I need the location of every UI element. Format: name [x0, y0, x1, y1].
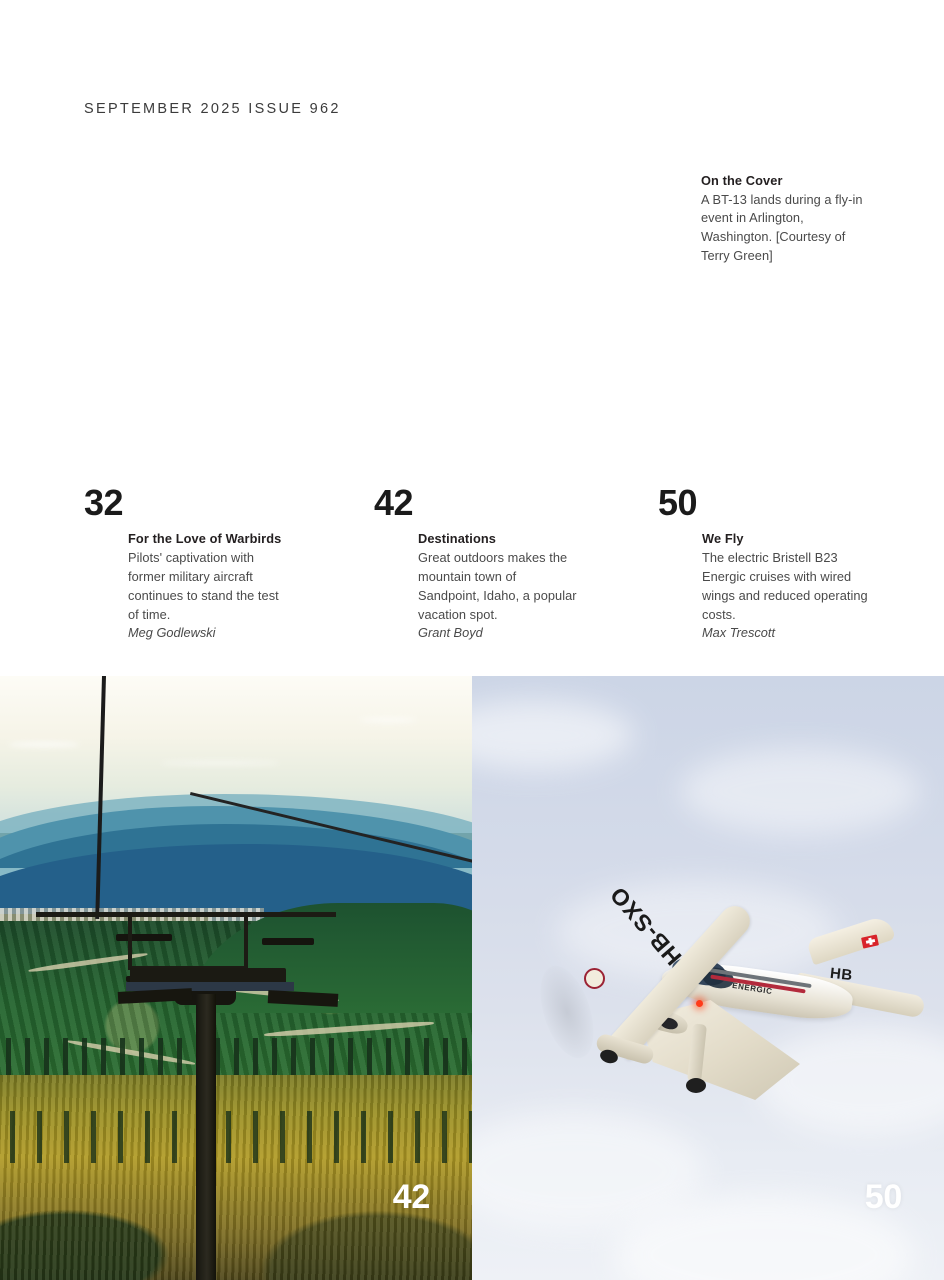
toc-entry-we-fly[interactable]: 50 We Fly The electric Bristell B23 Ener…	[658, 486, 918, 643]
mountain-resort-chairlift-photo[interactable]: 42	[0, 676, 472, 1280]
on-the-cover-block: On the Cover A BT-13 lands during a fly-…	[701, 172, 873, 266]
vertical-tail	[806, 914, 896, 965]
cloud-icon	[680, 748, 920, 834]
on-the-cover-body: A BT-13 lands during a fly-in event in A…	[701, 191, 873, 267]
toc-entry-description: Pilots' captivation with former military…	[128, 549, 288, 625]
issue-date-line: SEPTEMBER 2025 ISSUE 962	[84, 101, 341, 117]
toc-entry-author: Meg Godlewski	[128, 624, 288, 643]
lift-carrier-frame	[128, 914, 248, 970]
navigation-light-icon	[696, 1000, 703, 1007]
toc-entry-author: Grant Boyd	[418, 624, 578, 643]
magazine-contents-page: SEPTEMBER 2025 ISSUE 962 On the Cover A …	[0, 0, 944, 1280]
toc-entry-title: We Fly	[702, 530, 870, 549]
photo-page-number: 42	[393, 1180, 430, 1214]
toc-entry-warbirds[interactable]: 32 For the Love of Warbirds Pilots' capt…	[84, 486, 334, 643]
toc-entry-description: Great outdoors makes the mountain town o…	[418, 549, 578, 625]
toc-entry-destinations[interactable]: 42 Destinations Great outdoors makes the…	[374, 486, 624, 643]
electric-aircraft-in-flight-photo[interactable]: ENERGIC HB-SXO HB 50	[472, 676, 944, 1280]
wing-roundel-icon	[584, 968, 605, 989]
toc-entry-title: Destinations	[418, 530, 578, 549]
lift-tower-mast	[196, 994, 216, 1280]
toc-page-number: 50	[658, 486, 918, 520]
feature-photo-strip: 42 ENERGIC	[0, 676, 944, 1280]
wing-registration-marking: HB-SXO	[604, 881, 687, 971]
conifer-tree-band	[0, 1111, 472, 1163]
toc-entry-description: The electric Bristell B23 Energic cruise…	[702, 549, 870, 625]
toc-entry-title: For the Love of Warbirds	[128, 530, 288, 549]
landing-gear-wheel	[686, 1078, 706, 1093]
swiss-flag-icon	[861, 934, 879, 948]
table-of-contents: 32 For the Love of Warbirds Pilots' capt…	[0, 486, 944, 656]
tail-registration-marking: HB	[829, 965, 853, 984]
toc-page-number: 32	[84, 486, 334, 520]
distant-chair	[262, 938, 314, 945]
cloud-icon	[472, 700, 634, 770]
cloud-wisp-icon	[160, 761, 280, 765]
on-the-cover-title: On the Cover	[701, 172, 873, 191]
aircraft-graphic: ENERGIC HB-SXO HB	[544, 872, 884, 1052]
toc-page-number: 42	[374, 486, 624, 520]
photo-page-number: 50	[865, 1180, 902, 1214]
toc-entry-author: Max Trescott	[702, 624, 870, 643]
